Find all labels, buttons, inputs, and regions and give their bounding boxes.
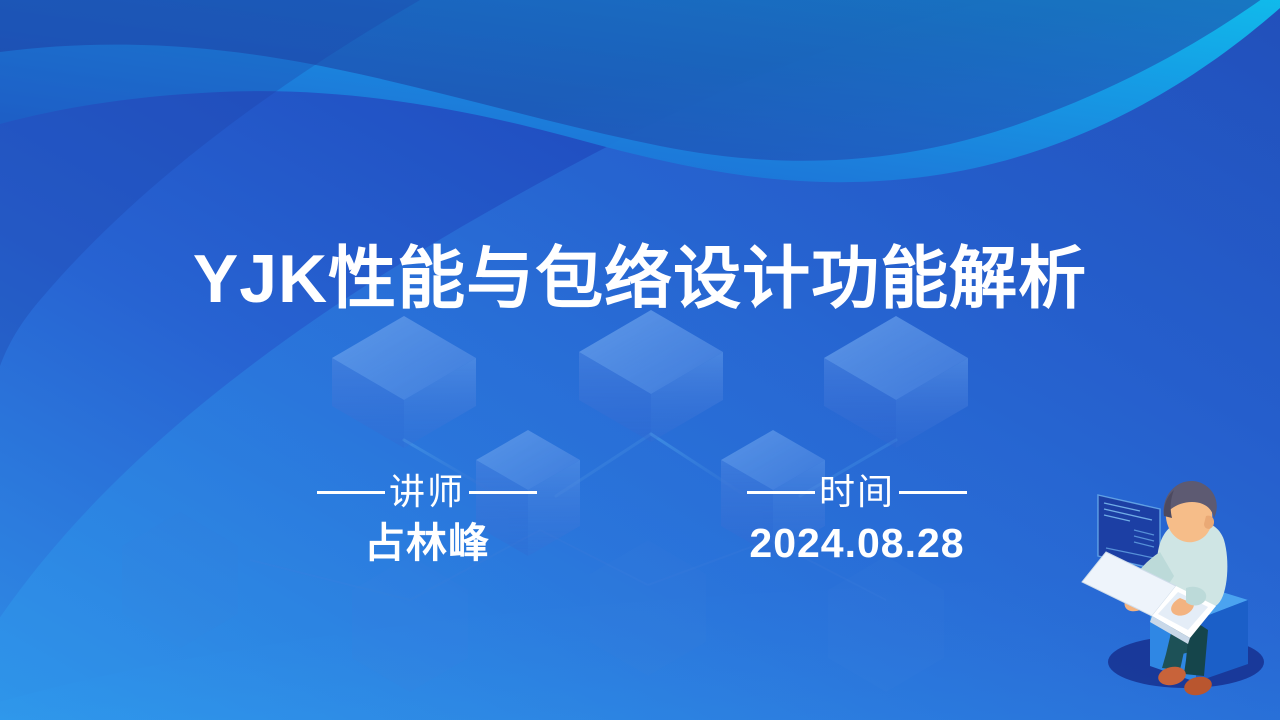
- meta-block-speaker: 讲师 占林峰: [262, 470, 592, 565]
- date-right-rule-icon: [899, 491, 967, 494]
- date-left-rule-icon: [747, 491, 815, 494]
- date-value: 2024.08.28: [692, 522, 1022, 565]
- slide-meta-row: 讲师 占林峰 时间 2024.08.28: [262, 470, 1022, 565]
- speaker-left-rule-icon: [317, 491, 385, 494]
- speaker-right-rule-icon: [469, 491, 537, 494]
- meta-block-date: 时间 2024.08.28: [692, 470, 1022, 565]
- slide-title: YJK性能与包络设计功能解析: [0, 242, 1280, 317]
- speaker-name: 占林峰: [262, 522, 592, 565]
- date-label: 时间: [819, 474, 895, 510]
- date-label-row: 时间: [692, 470, 1022, 514]
- speaker-label-row: 讲师: [262, 470, 592, 514]
- speaker-label: 讲师: [389, 474, 465, 510]
- presentation-slide: YJK性能与包络设计功能解析 讲师 占林峰 时间 2024.08.28: [0, 0, 1280, 720]
